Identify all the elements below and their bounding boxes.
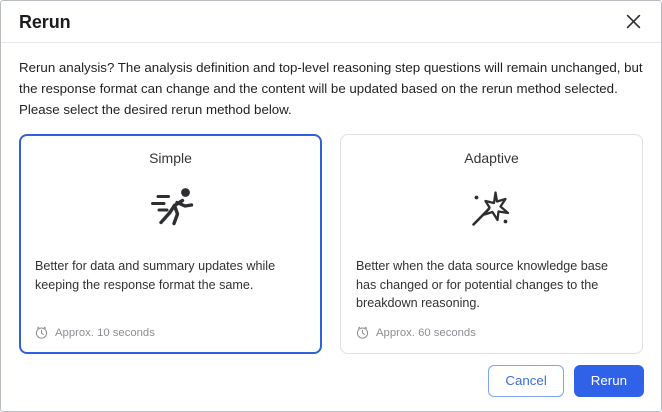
option-duration-adaptive: Approx. 60 seconds [356, 326, 627, 341]
option-duration-simple: Approx. 10 seconds [35, 326, 306, 341]
option-title-adaptive: Adaptive [356, 149, 627, 167]
clock-icon [35, 326, 48, 339]
dialog-body: Rerun analysis? The analysis definition … [1, 43, 661, 354]
dialog-description: Rerun analysis? The analysis definition … [19, 57, 643, 120]
rerun-dialog: Rerun Rerun analysis? The analysis defin… [0, 0, 662, 412]
close-icon[interactable] [622, 11, 644, 33]
option-duration-label-adaptive: Approx. 60 seconds [376, 327, 476, 339]
option-duration-label-simple: Approx. 10 seconds [55, 327, 155, 339]
dialog-footer: Cancel Rerun [1, 354, 661, 411]
running-person-icon [35, 171, 306, 247]
option-description-adaptive: Better when the data source knowledge ba… [356, 257, 627, 313]
clock-icon [356, 326, 369, 339]
dialog-title: Rerun [19, 13, 71, 31]
cancel-button[interactable]: Cancel [488, 365, 563, 397]
magic-wand-icon [356, 171, 627, 247]
dialog-header: Rerun [1, 1, 661, 43]
rerun-button[interactable]: Rerun [574, 365, 644, 397]
option-card-adaptive[interactable]: Adaptive Better when the data source kno… [340, 134, 643, 354]
option-title-simple: Simple [35, 149, 306, 167]
option-description-simple: Better for data and summary updates whil… [35, 257, 306, 294]
rerun-method-options: Simple Better for data and summary updat… [19, 134, 643, 354]
option-card-simple[interactable]: Simple Better for data and summary updat… [19, 134, 322, 354]
